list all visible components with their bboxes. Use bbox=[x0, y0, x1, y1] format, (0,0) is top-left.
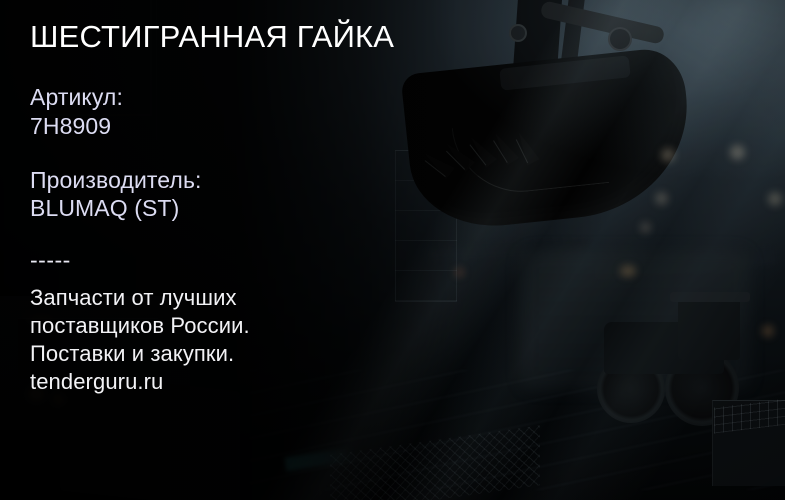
site-url[interactable]: tenderguru.ru bbox=[30, 368, 500, 396]
tractor-body-icon bbox=[604, 322, 724, 374]
banner-content: ШЕСТИГРАННАЯ ГАЙКА Артикул: 7H8909 Произ… bbox=[30, 20, 500, 396]
tagline-line: Поставки и закупки. bbox=[30, 340, 500, 368]
bokeh-light-icon bbox=[730, 145, 745, 160]
blurred-vehicle-icon bbox=[520, 250, 750, 390]
bokeh-light-icon bbox=[661, 148, 675, 162]
tagline-block: Запчасти от лучших поставщиков России. П… bbox=[30, 284, 500, 397]
cargo-crate-icon bbox=[712, 400, 785, 486]
background-beam-secondary-icon bbox=[596, 247, 777, 279]
bokeh-light-icon bbox=[768, 192, 782, 206]
article-field: Артикул: 7H8909 bbox=[30, 83, 500, 140]
tagline-line: поставщиков России. bbox=[30, 312, 500, 340]
bucket-tooth-icon bbox=[512, 129, 539, 166]
manufacturer-value: BLUMAQ (ST) bbox=[30, 194, 500, 222]
page-title: ШЕСТИГРАННАЯ ГАЙКА bbox=[30, 20, 500, 53]
tractor-roof-icon bbox=[670, 292, 750, 302]
excavator-pivot-pin-3-icon bbox=[606, 84, 627, 105]
tractor-wheel-rear-icon bbox=[597, 355, 665, 423]
manufacturer-label: Производитель: bbox=[30, 166, 500, 194]
excavator-pivot-pin-icon bbox=[509, 24, 527, 42]
bokeh-light-icon bbox=[655, 192, 668, 205]
product-banner: ШЕСТИГРАННАЯ ГАЙКА Артикул: 7H8909 Произ… bbox=[0, 0, 785, 500]
teal-highlight-icon bbox=[284, 447, 355, 472]
tread-mesh-icon bbox=[330, 425, 540, 500]
tractor-cab-icon bbox=[678, 298, 740, 360]
excavator-boom-icon bbox=[504, 0, 564, 201]
manufacturer-field: Производитель: BLUMAQ (ST) bbox=[30, 166, 500, 223]
excavator-linkage-icon bbox=[540, 0, 666, 45]
cargo-crate-grid-icon bbox=[714, 396, 785, 433]
bokeh-light-icon bbox=[620, 265, 636, 277]
divider: ----- bbox=[30, 249, 500, 272]
bokeh-light-icon bbox=[640, 222, 651, 233]
tagline-line: Запчасти от лучших bbox=[30, 284, 500, 312]
excavator-boom-secondary-icon bbox=[549, 0, 587, 160]
article-label: Артикул: bbox=[30, 83, 500, 111]
excavator-pivot-pin-2-icon bbox=[608, 27, 632, 51]
bokeh-light-icon bbox=[762, 325, 774, 337]
excavator-bucket-top-icon bbox=[499, 55, 631, 90]
article-value: 7H8909 bbox=[30, 112, 500, 140]
excavator-pivot-pin-4-icon bbox=[640, 74, 670, 104]
tractor-wheel-front-icon bbox=[665, 350, 739, 426]
